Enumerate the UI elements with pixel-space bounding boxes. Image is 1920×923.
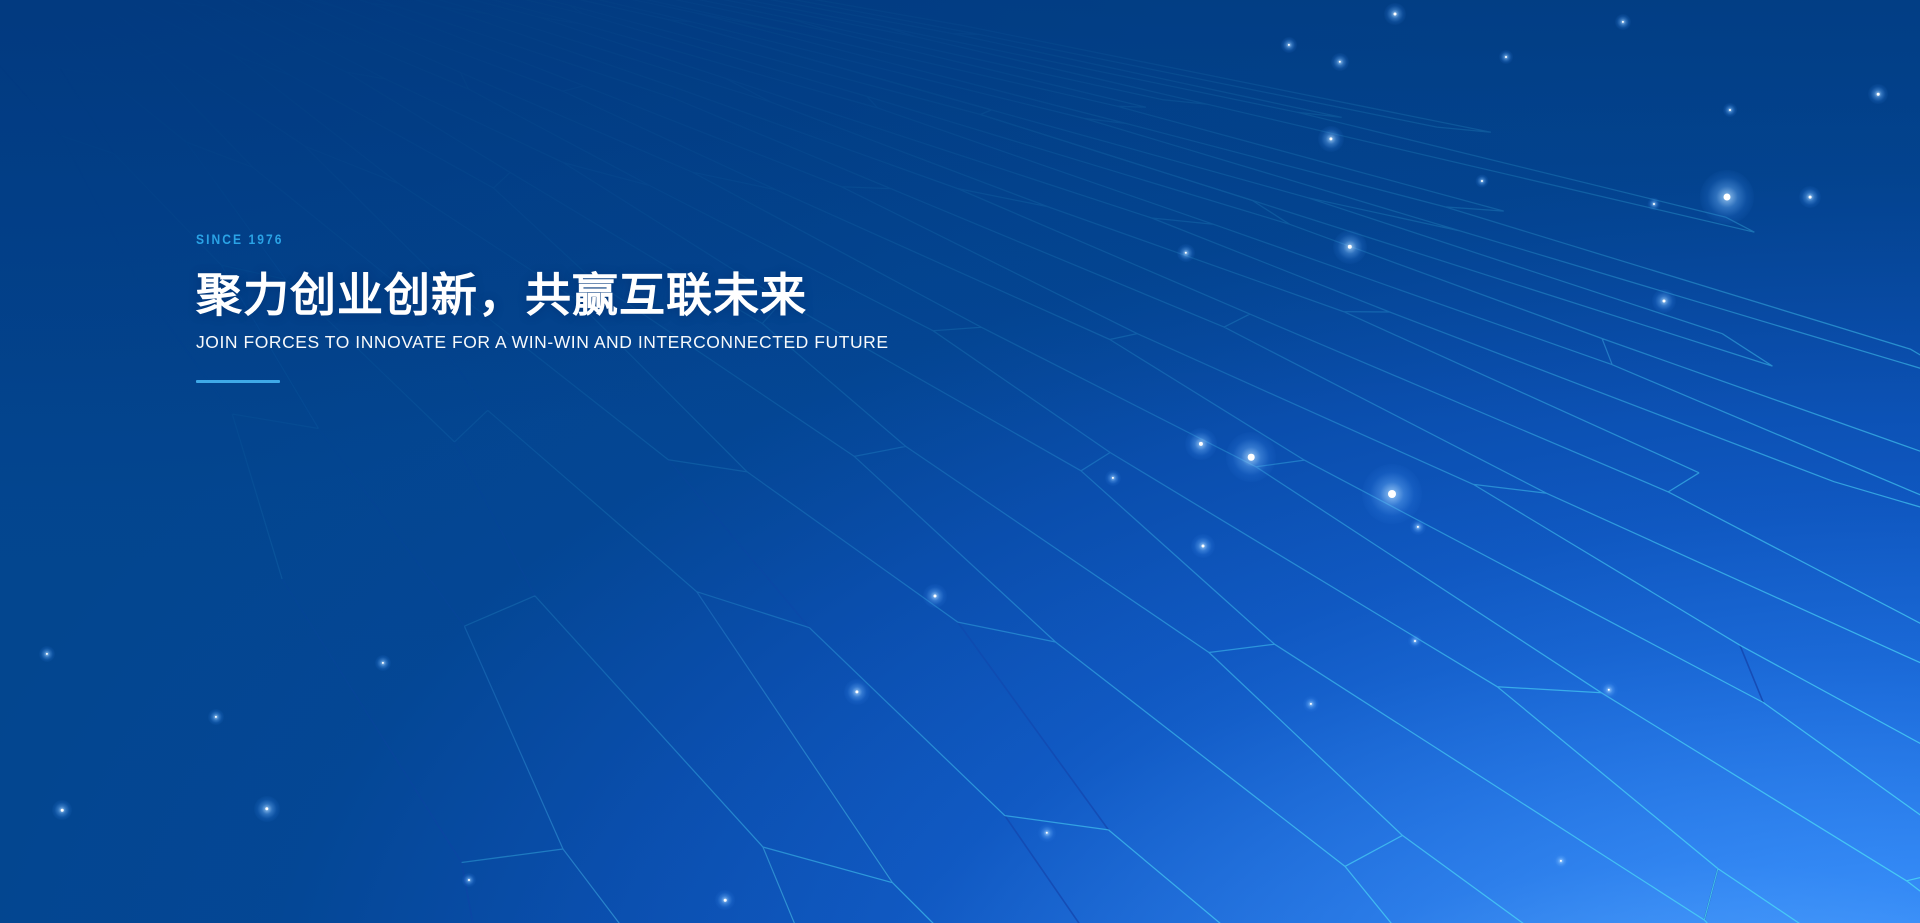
hex-mesh-bright-edges bbox=[0, 0, 1920, 923]
hex-mesh-svg bbox=[0, 0, 1920, 923]
eyebrow-since-label: SINCE 1976 bbox=[196, 232, 1056, 246]
hero-banner: SINCE 1976 聚力创业创新，共赢互联未来 JOIN FORCES TO … bbox=[0, 0, 1920, 923]
hex-mesh-decoration bbox=[0, 0, 1920, 923]
hero-copy-block: SINCE 1976 聚力创业创新，共赢互联未来 JOIN FORCES TO … bbox=[196, 232, 1196, 383]
hex-edge-dark bbox=[0, 0, 1920, 923]
hero-subheadline: JOIN FORCES TO INNOVATE FOR A WIN-WIN AN… bbox=[196, 332, 1196, 353]
hero-headline: 聚力创业创新，共赢互联未来 bbox=[196, 268, 1196, 322]
hex-edge-bright bbox=[0, 0, 1920, 923]
hex-mesh-dark-edges bbox=[0, 0, 1920, 923]
accent-divider bbox=[196, 380, 280, 383]
